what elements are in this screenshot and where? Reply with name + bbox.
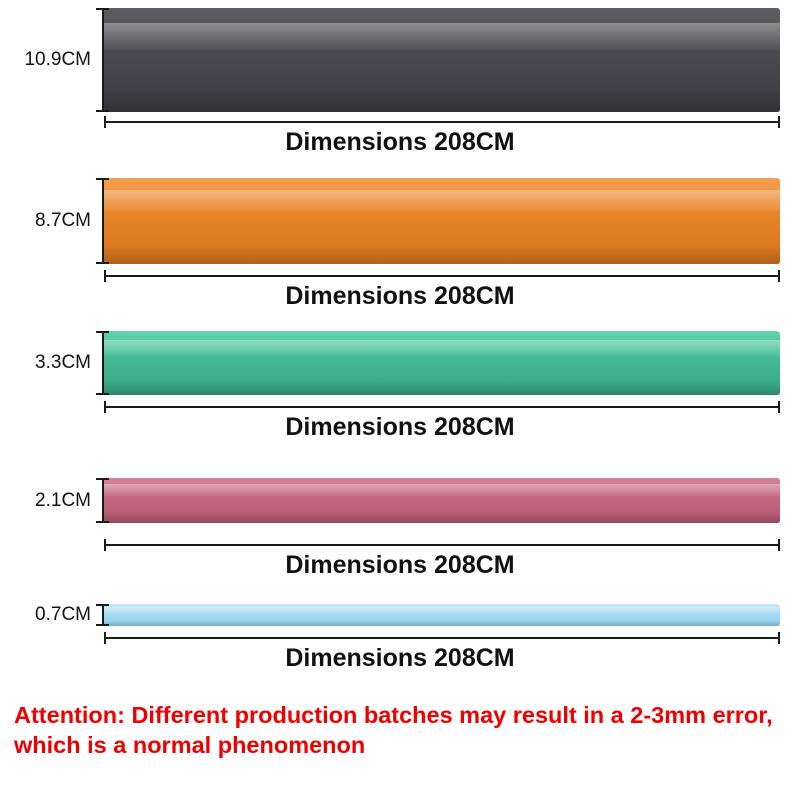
dimension-cap-right [778,116,780,128]
band-gloss-shadow [104,621,780,626]
pink-band [104,478,780,523]
black-band-width-dimension: 10.9CM [96,8,109,112]
band-gloss-shadow [104,513,780,523]
dimension-cap-left [104,401,106,413]
band-gloss-highlight [104,190,780,212]
dimension-line [104,544,780,546]
orange-band-width-dimension: 8.7CM [96,178,109,264]
green-band-length-dimension [104,401,780,413]
blue-band-length-dimension [104,632,780,644]
blue-band-length-label: Dimensions 208CM [0,644,800,673]
orange-band-width-label: 8.7CM [35,210,91,232]
dimension-line [104,275,780,277]
dimension-cap-right [778,632,780,644]
dimension-cap-top [96,178,109,180]
dimension-cap-bottom [96,624,109,626]
dimension-cap-bottom [96,110,109,112]
dimension-cap-left [104,632,106,644]
orange-band [104,178,780,264]
dimension-cap-right [778,539,780,551]
green-band-width-dimension: 3.3CM [96,331,109,395]
green-band [104,331,780,395]
pink-band-length-dimension [104,539,780,551]
dimension-line [102,8,104,112]
dimension-cap-left [104,270,106,282]
blue-band-width-dimension: 0.7CM [96,604,109,626]
dimension-cap-top [96,478,109,480]
dimension-cap-left [104,539,106,551]
dimension-line [104,121,780,123]
dimension-line [104,637,780,639]
band-gloss-highlight [104,340,780,357]
green-band-width-label: 3.3CM [35,352,91,374]
band-gloss-highlight [104,23,780,50]
black-band-width-label: 10.9CM [24,49,91,71]
black-band [104,8,780,112]
band-gloss-shadow [104,381,780,395]
dimension-cap-top [96,8,109,10]
band-dimensions-diagram: 10.9CM Dimensions 208CM 8.7CM Dimensions… [0,0,800,800]
dimension-cap-bottom [96,521,109,523]
band-gloss-shadow [104,89,780,112]
orange-band-length-dimension [104,270,780,282]
pink-band-length-label: Dimensions 208CM [0,551,800,580]
blue-band-width-label: 0.7CM [35,604,91,626]
pink-band-width-label: 2.1CM [35,490,91,512]
dimension-cap-left [104,116,106,128]
blue-band [104,604,780,626]
dimension-line [102,178,104,264]
dimension-cap-right [778,270,780,282]
black-band-length-dimension [104,116,780,128]
attention-note: Attention: Different production batches … [14,700,789,760]
dimension-cap-right [778,401,780,413]
dimension-line [102,331,104,395]
band-gloss-shadow [104,245,780,264]
pink-band-width-dimension: 2.1CM [96,478,109,523]
dimension-cap-bottom [96,393,109,395]
dimension-line [102,478,104,523]
dimension-cap-top [96,604,109,606]
band-gloss-highlight [104,607,780,613]
green-band-length-label: Dimensions 208CM [0,413,800,442]
black-band-length-label: Dimensions 208CM [0,128,800,157]
dimension-cap-bottom [96,262,109,264]
dimension-line [104,406,780,408]
dimension-cap-top [96,331,109,333]
dimension-line [102,604,104,626]
band-gloss-highlight [104,484,780,496]
orange-band-length-label: Dimensions 208CM [0,282,800,311]
